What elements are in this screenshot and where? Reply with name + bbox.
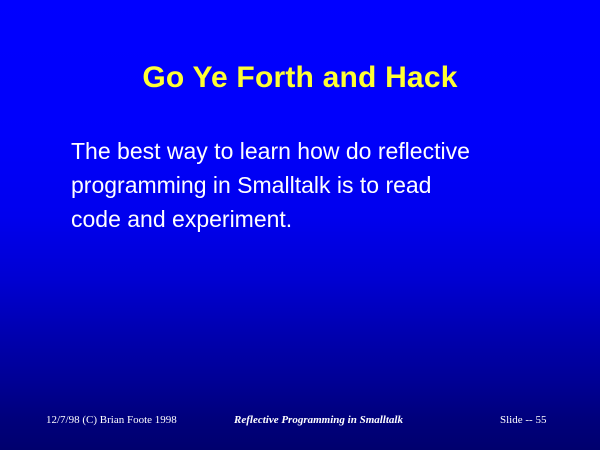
presentation-slide: Go Ye Forth and Hack The best way to lea… (0, 0, 600, 450)
slide-body: The best way to learn how do reflective … (71, 134, 551, 236)
body-line: code and experiment. (71, 202, 551, 236)
body-line: The best way to learn how do reflective (71, 134, 551, 168)
footer-copyright: 12/7/98 (C) Brian Foote 1998 (46, 412, 177, 428)
slide-title: Go Ye Forth and Hack (0, 60, 600, 96)
body-line: programming in Smalltalk is to read (71, 168, 551, 202)
footer-presentation-title: Reflective Programming in Smalltalk (234, 412, 403, 428)
slide-footer: 12/7/98 (C) Brian Foote 1998 Reflective … (0, 412, 600, 432)
footer-slide-number: Slide -- 55 (500, 412, 546, 428)
